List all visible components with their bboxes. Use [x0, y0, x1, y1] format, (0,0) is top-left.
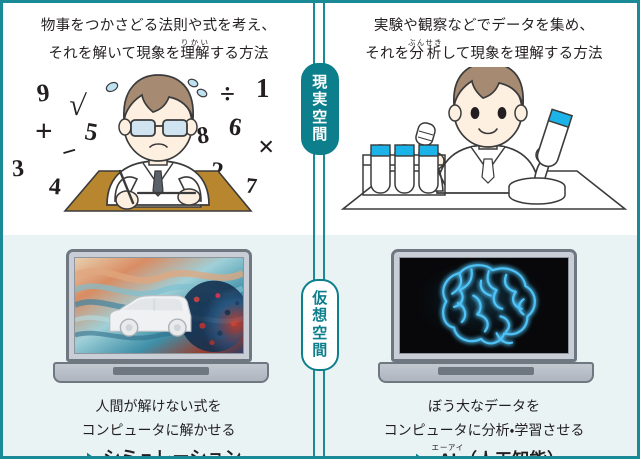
ai-result: AIエーアイ（人工知能） [384, 443, 585, 459]
experiment-caption: 実験や観察などでデータを集め、 それを分析ぶんせきして現象を理解する方法 [365, 3, 603, 67]
student-at-desk-drawing [3, 67, 314, 217]
badge-virtual-char-2: 空 [312, 325, 328, 342]
simulation-text-line2: コンピュータに解かせる [75, 418, 242, 442]
ai-screen [399, 257, 569, 354]
simulation-laptop-trackpad [113, 367, 209, 375]
experiment-caption-line1: 実験や観察などでデータを集め、 [365, 15, 603, 38]
experiment-caption-line2-pre: それを [365, 46, 409, 62]
badge-virtual-space: 仮 想 空 間 [301, 279, 339, 371]
theory-caption-line2-pre: それを解いて現象を [48, 46, 180, 62]
theory-ruby-text: りかい [180, 38, 209, 47]
ai-laptop-base [378, 362, 594, 383]
badge-real-char-2: 空 [312, 109, 328, 126]
quadrant-simulation: 人間が解けない式を コンピュータに解かせる シミュレーション [3, 235, 314, 459]
ai-ruby-text: エーアイ [432, 443, 465, 452]
held-test-tube [535, 109, 572, 169]
experiment-caption-ruby: 分析ぶんせき [409, 46, 441, 62]
theory-caption-line2-post: する方法 [210, 46, 269, 62]
simulation-text-line1: 人間が解けない式を [75, 394, 242, 418]
theory-ruby-base: 理解 [180, 46, 209, 62]
theory-caption-ruby: 理解りかい [180, 46, 209, 62]
badge-real-char-1: 実 [312, 91, 328, 108]
neural-brain-visualization [400, 258, 568, 353]
theory-illustration: 9 √ + 5 − 3 4 ÷ 1 6 8 × 2 7 [3, 67, 314, 235]
petri-dish [509, 178, 565, 204]
concept-diagram-real-vs-virtual-space: 物事をつかさどる法則や式を考え、 それを解いて現象を理解りかいする方法 9 √ … [0, 0, 640, 459]
simulation-laptop [66, 249, 252, 383]
quadrant-theory: 物事をつかさどる法則や式を考え、 それを解いて現象を理解りかいする方法 9 √ … [3, 3, 314, 235]
badge-real-char-3: 間 [312, 126, 328, 143]
ai-text-line1: ぼう大なデータを [384, 394, 585, 418]
theory-caption: 物事をつかさどる法則や式を考え、 それを解いて現象を理解りかいする方法 [41, 3, 276, 67]
experiment-caption-line2-post: して現象を理解する方法 [441, 46, 602, 62]
experiment-ruby-base: 分析 [408, 46, 443, 62]
simulation-laptop-lid [66, 249, 252, 362]
simulation-description: 人間が解けない式を コンピュータに解かせる シミュレーション [75, 394, 242, 459]
theory-caption-line1: 物事をつかさどる法則や式を考え、 [41, 15, 276, 38]
badge-virtual-char-0: 仮 [312, 290, 328, 307]
ai-result-label: AIエーアイ（人工知能） [432, 443, 565, 459]
ai-text-line2: コンピュータに分析・学習させる [384, 418, 585, 442]
arrow-right-icon [404, 451, 426, 459]
badge-virtual-char-1: 想 [312, 307, 328, 324]
ai-description: ぼう大なデータを コンピュータに分析・学習させる AIエーアイ（人工知能） [384, 394, 585, 459]
ai-laptop [391, 249, 577, 383]
ai-laptop-lid [391, 249, 577, 362]
theory-caption-line2: それを解いて現象を理解りかいする方法 [41, 38, 276, 66]
ai-result-ruby: AIエーアイ [432, 450, 461, 459]
arrow-right-icon [75, 450, 97, 459]
ai-result-label-post: （人工知能） [460, 450, 564, 459]
badge-real-space: 現 実 空 間 [301, 63, 339, 155]
badge-real-char-0: 現 [312, 74, 328, 91]
simulation-screen [74, 257, 244, 354]
cfd-airflow-visualization [75, 258, 243, 353]
ai-laptop-trackpad [438, 367, 534, 375]
test-tube-rack [363, 145, 445, 195]
simulation-laptop-base [53, 362, 269, 383]
quadrant-experiment: 実験や観察などでデータを集め、 それを分析ぶんせきして現象を理解する方法 [325, 3, 640, 235]
simulation-result-label: シミュレーション [103, 443, 242, 459]
experiment-caption-line2: それを分析ぶんせきして現象を理解する方法 [365, 38, 603, 66]
badge-virtual-char-3: 間 [312, 342, 328, 359]
scientist-with-lab-equipment [325, 67, 640, 217]
simulation-result: シミュレーション [75, 443, 242, 459]
quadrant-ai: ぼう大なデータを コンピュータに分析・学習させる AIエーアイ（人工知能） [325, 235, 640, 459]
experiment-illustration [325, 67, 640, 235]
experiment-ruby-text: ぶんせき [408, 38, 443, 47]
